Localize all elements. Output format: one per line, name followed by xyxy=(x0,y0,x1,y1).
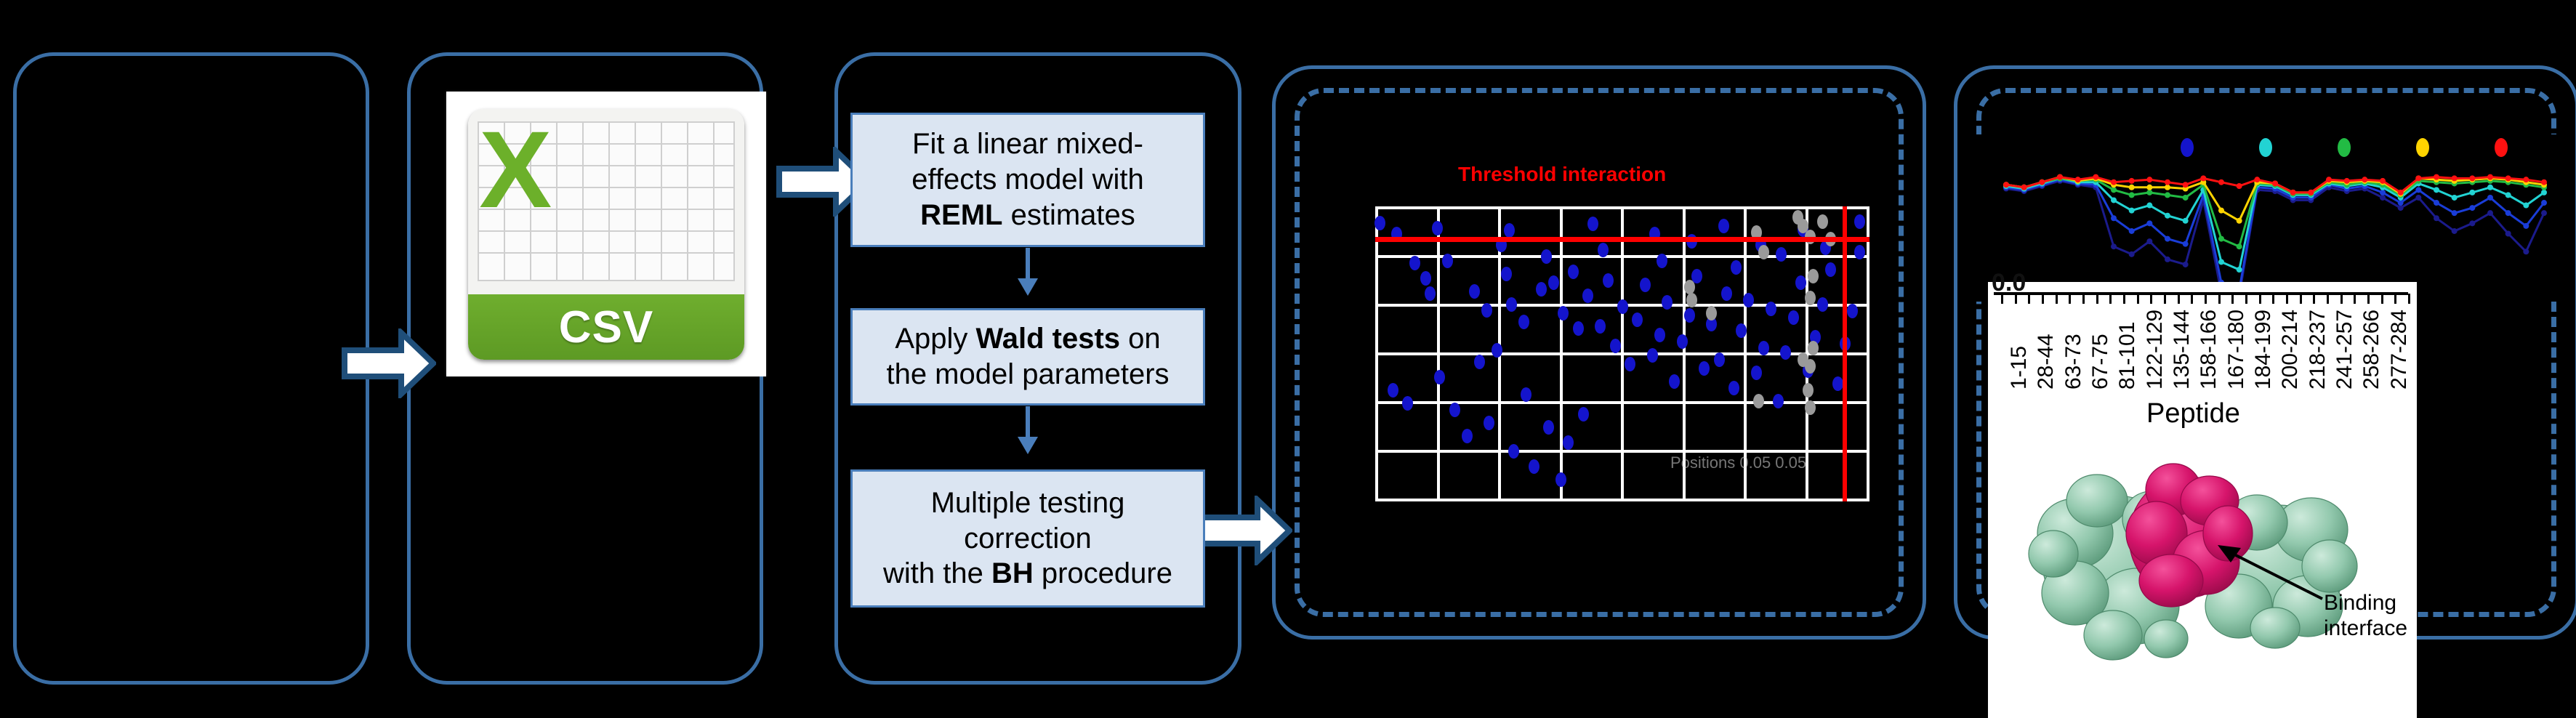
scatter-point xyxy=(1420,271,1431,286)
scatter-point xyxy=(1541,249,1552,264)
scatter-point xyxy=(1662,295,1673,310)
peptide-series-marker xyxy=(2523,203,2529,209)
peptide-series-marker xyxy=(2380,178,2386,184)
scatter-point xyxy=(1409,256,1420,270)
scatter-point xyxy=(1508,444,1519,459)
scatter-point xyxy=(1582,289,1593,303)
peptide-axis-label: 135-144 xyxy=(2170,310,2194,390)
peptide-series-marker xyxy=(2237,243,2242,249)
scatter-point xyxy=(1832,376,1843,391)
scatter-point xyxy=(1728,381,1739,395)
scatter-point xyxy=(1462,429,1473,443)
scatter-point xyxy=(1706,306,1717,320)
peptide-series-marker xyxy=(2308,190,2314,195)
peptide-series-marker xyxy=(2523,177,2529,182)
peptide-series-marker xyxy=(2434,174,2439,180)
scatter-point xyxy=(1481,303,1492,318)
peptide-series-marker xyxy=(2452,210,2458,216)
peptide-series-marker xyxy=(2218,208,2224,214)
threshold-interaction-line xyxy=(1375,237,1869,242)
step-wald-post: on xyxy=(1120,323,1161,355)
step-wald-bold: Wald tests xyxy=(976,323,1121,355)
peptide-series-marker xyxy=(2183,195,2189,201)
arrow-analysis-to-volcano xyxy=(1198,496,1292,565)
step-fit-model-box[interactable]: Fit a linear mixed- effects model with R… xyxy=(850,113,1205,247)
peptide-series-marker xyxy=(2380,190,2386,195)
peptide-y-tick-zero: 0.0 xyxy=(1992,269,2026,297)
scatter-point xyxy=(1625,357,1635,371)
peptide-series-marker xyxy=(2237,267,2242,273)
peptide-series-marker xyxy=(2146,177,2152,182)
peptide-axis-label: 200-214 xyxy=(2278,310,2303,390)
peptide-series-marker xyxy=(2057,174,2063,180)
peptide-series-marker xyxy=(2218,259,2224,265)
peptide-series-marker xyxy=(2523,249,2529,254)
peptide-series-marker xyxy=(2380,195,2386,201)
scatter-point xyxy=(1402,396,1413,411)
scatter-point xyxy=(1555,472,1566,487)
connector-wald-to-bh xyxy=(1015,406,1041,459)
peptide-axis-label: 218-237 xyxy=(2306,310,2330,390)
scatter-point xyxy=(1501,267,1512,281)
peptide-series-marker xyxy=(2183,262,2189,267)
peptide-axis-label: 81-101 xyxy=(2115,322,2140,390)
scatter-point xyxy=(1632,312,1643,327)
peptide-series-marker xyxy=(2218,236,2224,242)
scatter-point xyxy=(1563,435,1574,450)
peptide-series-marker xyxy=(2415,175,2421,181)
scatter-point xyxy=(1684,308,1695,323)
peptide-series-marker xyxy=(2093,174,2098,180)
scatter-point xyxy=(1558,306,1569,320)
peptide-series-marker xyxy=(2541,179,2547,185)
peptide-series-marker xyxy=(2146,238,2152,244)
peptide-series-marker xyxy=(2146,203,2152,209)
peptide-series-marker xyxy=(2129,178,2135,184)
binding-interface-callout: Binding interface xyxy=(2324,590,2407,642)
peptide-series-marker xyxy=(2165,179,2170,185)
peptide-series-marker xyxy=(2021,185,2027,190)
peptide-series-marker xyxy=(2129,228,2135,234)
csv-file-icon: X CSV xyxy=(468,109,744,360)
peptide-series-marker xyxy=(2272,180,2278,186)
scatter-point xyxy=(1808,269,1819,283)
peptide-series-marker xyxy=(2434,200,2439,206)
peptide-series-marker xyxy=(2469,220,2475,226)
scatter-point xyxy=(1805,359,1816,374)
scatter-point xyxy=(1854,214,1865,229)
step-mt-bh: BH xyxy=(991,557,1034,589)
peptide-axis-label: 184-199 xyxy=(2251,310,2276,390)
step-mt-line3-pre: with the xyxy=(883,557,991,589)
scatter-point xyxy=(1469,284,1480,299)
scatter-point xyxy=(1425,286,1436,301)
scatter-point xyxy=(1529,459,1539,474)
peptide-series-marker xyxy=(2183,218,2189,224)
grid-line-vertical xyxy=(1437,206,1440,501)
peptide-series-marker xyxy=(2290,190,2296,195)
peptide-series-marker xyxy=(2326,177,2332,182)
step-fit-model-line2: effects model with xyxy=(911,164,1143,195)
scatter-point xyxy=(1776,247,1787,262)
scatter-point xyxy=(1795,275,1806,290)
ghost-axis-text: Positions 0.05 0.05 xyxy=(1670,453,1806,472)
peptide-series-marker xyxy=(2415,195,2421,201)
peptide-series-marker xyxy=(2487,195,2493,201)
peptide-series-marker xyxy=(2541,210,2547,216)
scatter-point xyxy=(1766,302,1776,316)
scatter-point xyxy=(1610,339,1621,353)
peptide-axis-label: 167-180 xyxy=(2224,310,2249,390)
scatter-point xyxy=(1374,216,1385,230)
scatter-point xyxy=(1718,219,1729,233)
step-wald-line2: the model parameters xyxy=(886,358,1169,390)
arrow-input-to-data xyxy=(342,328,436,398)
input-stage-box xyxy=(13,52,369,685)
peptide-axis-label: 63-73 xyxy=(2061,334,2086,390)
peptide-axis-label: 1-15 xyxy=(2007,346,2032,390)
peptide-profile-chart xyxy=(1963,134,2566,302)
threshold-state-line xyxy=(1843,206,1847,501)
peptide-series-marker xyxy=(2129,185,2135,190)
scatter-point xyxy=(1753,394,1764,408)
peptide-series-marker xyxy=(2541,200,2547,206)
scatter-point xyxy=(1504,223,1515,238)
peptide-series-marker xyxy=(2452,228,2458,234)
scatter-point xyxy=(1751,366,1762,380)
scatter-point xyxy=(1714,352,1725,367)
peptide-series-marker xyxy=(2523,223,2529,229)
peptide-series-marker xyxy=(2469,205,2475,211)
peptide-series-marker xyxy=(2039,179,2045,185)
peptide-series-marker xyxy=(2129,192,2135,198)
step-mt-line3-post: procedure xyxy=(1034,557,1172,589)
scatter-point xyxy=(1817,297,1828,312)
scatter-point xyxy=(1684,280,1695,294)
grid-line-vertical xyxy=(1560,206,1563,501)
grid-line-vertical xyxy=(1375,206,1378,501)
peptide-series-marker xyxy=(2237,183,2242,189)
scatter-point xyxy=(1640,278,1651,292)
peptide-axis-label: 122-129 xyxy=(2143,310,2168,390)
peptide-series-marker xyxy=(2505,210,2511,216)
grid-line-vertical xyxy=(1621,206,1624,501)
peptide-axis-label: 28-44 xyxy=(2034,334,2058,390)
scatter-point xyxy=(1578,407,1589,421)
scatter-point xyxy=(1449,403,1460,417)
csv-format-band: CSV xyxy=(468,294,744,360)
peptide-series-marker xyxy=(2487,185,2493,190)
scatter-point xyxy=(1506,297,1517,312)
scatter-point xyxy=(1548,275,1559,290)
peptide-axis-label: 277-284 xyxy=(2387,310,2412,390)
peptide-series-marker xyxy=(2165,192,2170,198)
peptide-series-marker xyxy=(2398,205,2404,211)
peptide-series-marker xyxy=(2146,220,2152,226)
scatter-point xyxy=(1654,328,1665,342)
peptide-series-marker xyxy=(2165,185,2170,190)
scatter-point xyxy=(1677,334,1688,349)
scatter-point xyxy=(1474,355,1485,369)
threshold-interaction-label: Threshold interaction xyxy=(1458,163,1666,186)
scatter-point xyxy=(1803,383,1814,398)
csv-format-label: CSV xyxy=(559,302,653,353)
scatter-point xyxy=(1434,370,1445,384)
excel-x-letter: X xyxy=(479,119,589,249)
peptide-series-marker xyxy=(2254,177,2260,182)
peptide-series-marker xyxy=(2469,175,2475,181)
scatter-point xyxy=(1543,420,1554,435)
scatter-point xyxy=(1721,286,1732,301)
peptide-series-marker xyxy=(2129,208,2135,214)
peptide-series-marker xyxy=(2111,215,2117,221)
scatter-point xyxy=(1521,387,1531,402)
step-wald-pre: Apply xyxy=(895,323,975,355)
scatter-point xyxy=(1484,416,1494,430)
step-wald-tests-box[interactable]: Apply Wald tests on the model parameters xyxy=(850,308,1205,406)
scatter-point xyxy=(1669,374,1680,389)
step-mt-line2: correction xyxy=(964,523,1092,554)
step-mt-line1: Multiple testing xyxy=(931,487,1125,519)
peptide-line-series xyxy=(1963,134,2566,302)
scatter-point xyxy=(1758,245,1769,259)
workflow-diagram: X CSV Fit a linear mixed- effects model … xyxy=(0,0,2576,687)
scatter-point xyxy=(1492,343,1502,358)
scatter-point xyxy=(1573,321,1584,336)
peptide-series-marker xyxy=(2487,174,2493,180)
peptide-series-marker xyxy=(2003,182,2009,187)
step-fit-model-reml: REML xyxy=(920,199,1002,231)
peptide-series-marker xyxy=(2398,200,2404,206)
scatter-point xyxy=(1568,265,1579,279)
peptide-series-marker xyxy=(2344,178,2350,184)
peptide-series-marker xyxy=(2505,231,2511,237)
peptide-series-marker xyxy=(2452,175,2458,181)
peptide-series-marker xyxy=(2505,175,2511,181)
peptide-axis-label: 67-75 xyxy=(2088,334,2113,390)
peptide-series-marker xyxy=(2075,177,2081,182)
peptide-axis-labels: 1-1528-4463-7367-7581-101122-129135-1441… xyxy=(1988,282,2417,406)
peptide-series-marker xyxy=(2434,215,2439,221)
scatter-point xyxy=(1847,304,1858,318)
scatter-point xyxy=(1773,394,1784,408)
peptide-series-marker xyxy=(2111,187,2117,193)
step-fit-model-line1: Fit a linear mixed- xyxy=(912,128,1143,160)
scatter-point xyxy=(1518,315,1529,329)
peptide-series-marker xyxy=(2505,192,2511,198)
scatter-point xyxy=(1825,262,1836,277)
peptide-series-marker xyxy=(2111,243,2117,249)
peptide-series-marker xyxy=(2111,179,2117,185)
scatter-point xyxy=(1432,221,1443,235)
peptide-series-marker xyxy=(2146,185,2152,190)
peptide-series-line xyxy=(2006,179,2544,290)
scatter-point xyxy=(1805,400,1816,415)
peptide-series-marker xyxy=(2111,197,2117,203)
peptide-series-marker xyxy=(2415,187,2421,193)
peptide-series-marker xyxy=(2146,190,2152,195)
peptide-series-marker xyxy=(2541,190,2547,195)
scatter-point xyxy=(1788,310,1799,325)
scatter-point xyxy=(1598,243,1609,257)
scatter-point xyxy=(1647,348,1658,363)
scatter-point xyxy=(1699,361,1710,376)
scatter-point xyxy=(1817,214,1828,229)
peptide-axis-label: 158-166 xyxy=(2197,310,2221,390)
peptide-series-marker xyxy=(2165,213,2170,219)
peptide-series-marker xyxy=(2452,195,2458,201)
peptide-series-marker xyxy=(2183,182,2189,187)
connector-fit-to-wald xyxy=(1015,248,1041,301)
peptide-series-marker xyxy=(2469,190,2475,195)
volcano-plot: Threshold interaction Threshold state Po… xyxy=(1358,153,1896,516)
step-fit-model-line3-rest: estimates xyxy=(1003,199,1135,231)
scatter-point xyxy=(1595,319,1606,334)
peptide-series-marker xyxy=(2434,187,2439,193)
peptide-series-marker xyxy=(2487,210,2493,216)
binding-interface-line1: Binding xyxy=(2324,590,2407,616)
peptide-axis-panel: 1-1528-4463-7367-7581-101122-129135-1441… xyxy=(1988,282,2417,718)
step-multiple-testing-box[interactable]: Multiple testing correction with the BH … xyxy=(850,469,1205,608)
peptide-axis-label: 258-266 xyxy=(2359,310,2384,390)
scatter-point xyxy=(1536,282,1547,297)
peptide-series-marker xyxy=(2183,241,2189,247)
scatter-point xyxy=(1780,345,1791,360)
grid-line-vertical xyxy=(1867,206,1869,501)
scatter-point xyxy=(1587,217,1598,231)
scatter-point xyxy=(1388,383,1398,398)
scatter-point xyxy=(1603,273,1614,288)
csv-file-card: X CSV xyxy=(446,92,766,376)
peptide-series-marker xyxy=(2200,175,2206,181)
scatter-point xyxy=(1657,254,1667,268)
peptide-series-marker xyxy=(2237,218,2242,224)
peptide-series-marker xyxy=(2398,190,2404,195)
peptide-series-marker xyxy=(2362,177,2367,182)
peptide-axis-label: 241-257 xyxy=(2333,310,2357,390)
binding-interface-structure: Binding interface xyxy=(1988,424,2417,664)
peptide-series-marker xyxy=(2165,257,2170,262)
peptide-series-marker xyxy=(2129,251,2135,257)
scatter-point xyxy=(1617,299,1628,314)
scatter-point xyxy=(1731,260,1742,275)
peptide-series-marker xyxy=(2218,179,2224,185)
peptide-series-line xyxy=(2006,181,2544,296)
scatter-point xyxy=(1442,254,1453,268)
binding-interface-line2: interface xyxy=(2324,616,2407,641)
peptide-series-marker xyxy=(2165,236,2170,242)
